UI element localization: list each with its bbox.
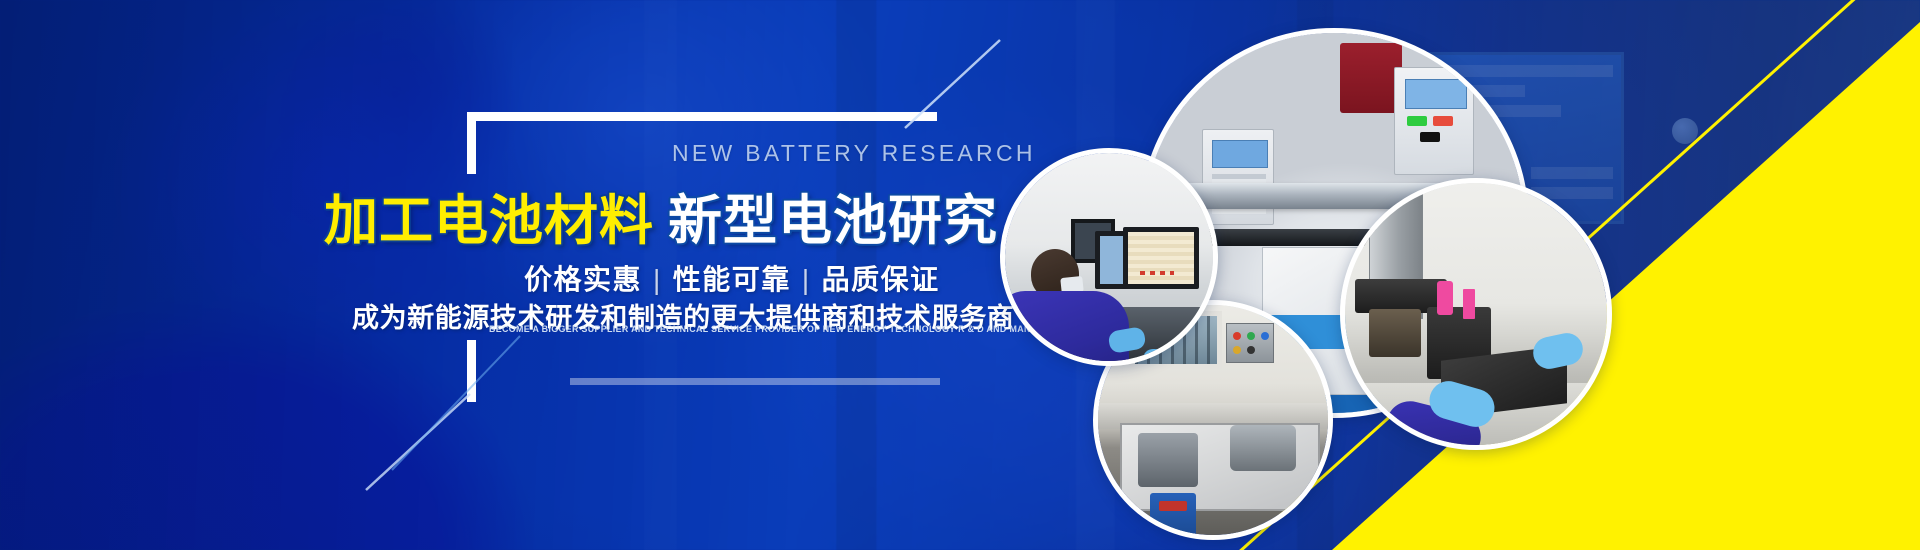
photo-circle-cluster <box>0 0 1920 550</box>
hero-banner: NEW BATTERY RESEARCH 加工电池材料新型电池研究 价格实惠|性… <box>0 0 1920 550</box>
photo-circle-operator <box>1000 148 1218 366</box>
photo-circle-press-operation <box>1340 178 1612 450</box>
